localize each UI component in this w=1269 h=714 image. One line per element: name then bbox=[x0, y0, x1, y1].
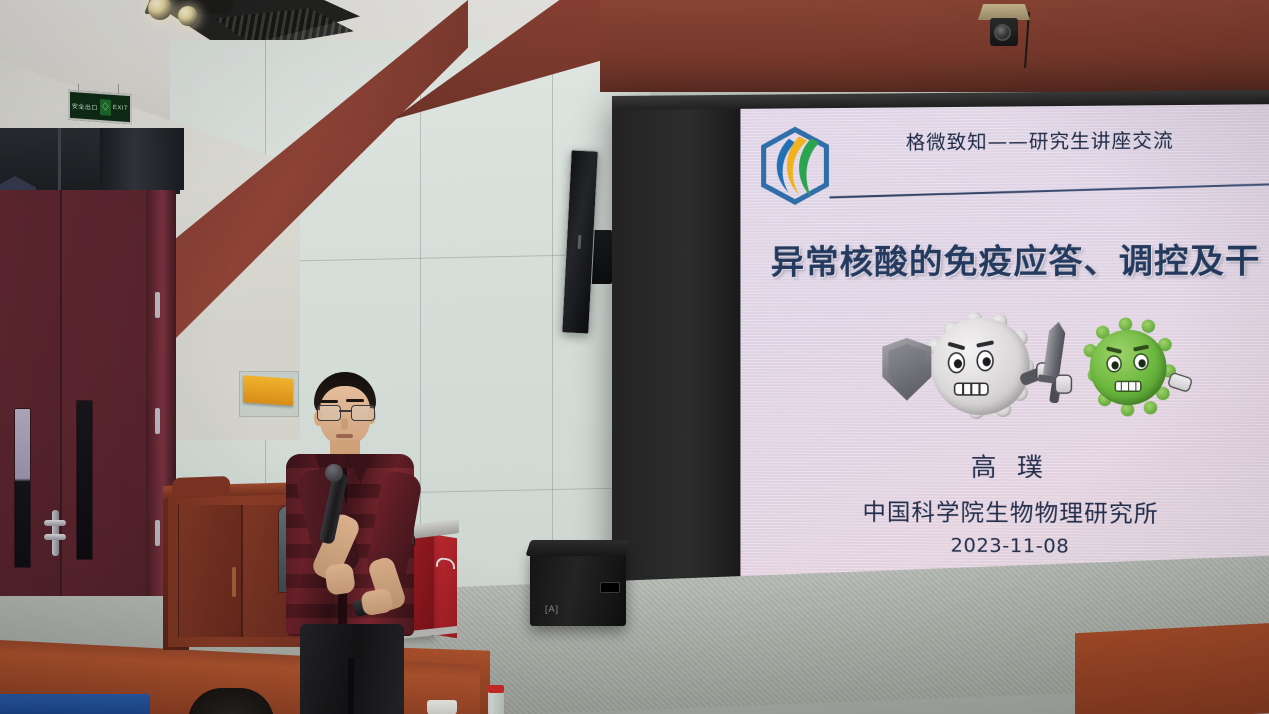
slide-content: 格微致知——研究生讲座交流 异常核酸的免疫应答、调控及干 bbox=[740, 104, 1269, 589]
immune-cell-pupil bbox=[983, 357, 991, 366]
immune-cell-mouth bbox=[954, 382, 989, 395]
presentation-screen[interactable]: 格微致知——研究生讲座交流 异常核酸的免疫应答、调控及干 bbox=[612, 90, 1269, 597]
slide-header: 格微致知——研究生讲座交流 bbox=[740, 110, 1269, 207]
paper-cup bbox=[427, 700, 457, 714]
subwoofer-badge: [A] bbox=[545, 604, 559, 614]
lecture-hall-scene: 安全出口 ♢ EXIT bbox=[0, 0, 1269, 714]
speaker-mouth bbox=[336, 434, 353, 438]
upper-glass-panel-strip bbox=[100, 128, 184, 190]
virus-pointing-hand bbox=[1167, 372, 1194, 394]
virus-mouth bbox=[1115, 381, 1142, 392]
door-handle[interactable] bbox=[52, 510, 59, 556]
stage-riser-right bbox=[1075, 623, 1269, 714]
virus-pupil bbox=[1138, 359, 1145, 367]
presenter-name: 高 璞 bbox=[740, 446, 1269, 485]
ceiling-spotlight bbox=[178, 6, 198, 26]
ceiling-spotlight bbox=[148, 0, 172, 20]
exit-sign: 安全出口 ♢ EXIT bbox=[68, 84, 128, 118]
immune-cell-vs-virus-illustration bbox=[882, 309, 1191, 432]
trouser-seam bbox=[348, 658, 354, 714]
virus-pupil bbox=[1111, 361, 1118, 369]
speaker-eyebrow bbox=[320, 400, 338, 403]
exit-sign-label-cn: 安全出口 bbox=[72, 101, 98, 112]
slide-title: 异常核酸的免疫应答、调控及干 bbox=[771, 233, 1269, 284]
audience-seat bbox=[0, 694, 150, 714]
door-lever[interactable] bbox=[44, 520, 66, 526]
virus-hand bbox=[1055, 375, 1073, 394]
door-window-left bbox=[14, 408, 31, 568]
presenting-speaker bbox=[270, 372, 430, 714]
cabinet-crest bbox=[172, 476, 230, 496]
virus-body bbox=[1090, 330, 1167, 406]
exit-sign-label-en: EXIT bbox=[113, 105, 128, 112]
sword-icon bbox=[1042, 321, 1066, 380]
speaker-left-hand bbox=[324, 562, 356, 596]
subwoofer-handle bbox=[600, 582, 620, 593]
eyeglasses bbox=[317, 405, 373, 419]
water-bottle-cap bbox=[488, 685, 504, 693]
speaker-eyebrow bbox=[346, 399, 364, 402]
hexagon-flame-logo bbox=[759, 126, 832, 205]
running-man-icon: ♢ bbox=[100, 99, 111, 116]
slide-credits: 高 璞 中国科学院生物物理研究所 2023-11-08 bbox=[740, 446, 1269, 559]
immune-cell-pupil bbox=[954, 359, 962, 368]
subwoofer-top bbox=[525, 540, 630, 556]
presenter-affiliation: 中国科学院生物物理研究所 bbox=[740, 492, 1269, 530]
slide-subtitle: 格微致知——研究生讲座交流 bbox=[870, 125, 1210, 155]
speaker-nose bbox=[341, 418, 348, 430]
presentation-date: 2023-11-08 bbox=[740, 533, 1269, 559]
screen-bezel-left bbox=[612, 95, 740, 592]
header-divider bbox=[830, 182, 1269, 198]
door-window-right bbox=[76, 400, 93, 560]
door-lever[interactable] bbox=[44, 534, 66, 540]
panel-joint bbox=[552, 40, 553, 600]
wood-trim-right bbox=[600, 0, 1269, 92]
camera-lens-icon bbox=[994, 24, 1011, 41]
